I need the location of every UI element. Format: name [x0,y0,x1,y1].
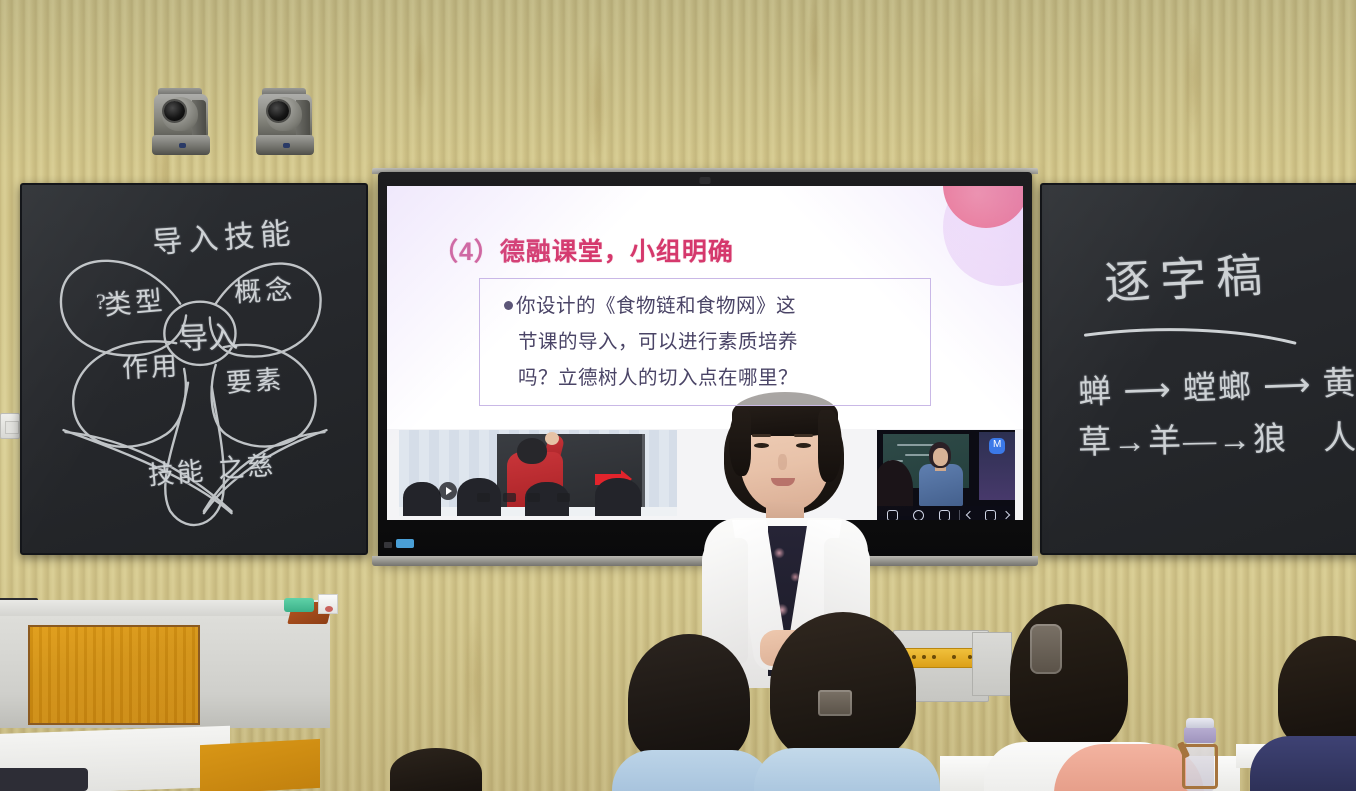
student-shirt [1250,736,1356,791]
hair-clip [1030,624,1062,674]
clip-person-head [517,438,547,464]
refresh-icon[interactable] [939,510,950,520]
play-icon[interactable] [439,482,457,500]
clip-student [595,478,641,516]
front-chair [0,768,88,791]
bottle-cap [1186,718,1214,728]
slide-body-line-2: 节课的导入，可以进行素质培养 [504,324,924,360]
left-chalkboard: 导入技能 类型 概念 作用 要素 技能 之慈 导入 ? [20,183,368,555]
student-hair [1010,604,1128,750]
bullet-icon [504,301,513,310]
podium-wood-panel [28,625,200,725]
food-chain-line-2: 草→羊—→狼 人 [1078,411,1356,464]
clip-control-icon[interactable] [503,493,516,502]
classroom-scene: 导入技能 类型 概念 作用 要素 技能 之慈 导入 ? 逐字稿 蝉 ⟶ 螳螂 ⟶… [0,0,1356,791]
mindmap-question-mark: ? [96,289,106,315]
food-chain-line-1: 蝉 ⟶ 螳螂 ⟶ 黄雀 [1077,355,1356,414]
student-hair [770,612,916,762]
mindmap-petal-5: 技能 [146,451,207,493]
mindmap-center-label: 导入 [177,312,238,358]
student-hair [1278,636,1356,748]
slide-title: （4）德融课堂，小组明确 [433,232,734,268]
previous-icon[interactable] [966,511,974,519]
presentation-slide: （4）德融课堂，小组明确 你设计的《食物链和食物网》这 节课的导入，可以进行素质… [387,186,1023,429]
app-badge-icon [989,438,1005,454]
ceiling-ptz-camera-right [256,88,314,168]
mindmap-petal-2: 概念 [233,267,297,309]
mindmap-petal-1: 类型 [102,278,167,322]
mindmap-petal-3: 作用 [121,346,181,386]
bottle-lid [1184,727,1216,743]
slide-content-box: 你设计的《食物链和食物网》这 节课的导入，可以进行素质培养 吗？立德树人的切入点… [479,278,931,406]
instructor-eye [754,443,769,448]
clip-person-hand [545,432,559,445]
camera-lens-icon [268,101,289,121]
student-shirt [612,750,772,791]
instructor-eyebrow [794,434,813,437]
student-5 [1270,636,1356,791]
slide-line-1-text: 你设计的《食物链和食物网》这 [516,295,796,317]
instructor-hair-right [818,410,842,482]
instructor-eye [796,443,811,448]
bezel-sensor-icon [700,177,711,184]
ceiling-ptz-camera-left [152,88,210,168]
slide-body-line-1: 你设计的《食物链和食物网》这 [504,288,924,324]
front-desk-wood-edge [200,739,320,791]
green-item-on-podium [284,598,314,612]
camera-led-indicator [179,143,186,148]
slide-title-number: （4） [433,238,500,266]
mindmap-petal-4: 要素 [225,359,285,400]
white-box-on-podium [318,594,338,614]
slide-body-text: 你设计的《食物链和食物网》这 节课的导入，可以进行素质培养 吗？立德树人的切入点… [504,288,924,396]
clip-control-icon[interactable] [527,493,540,502]
player-sidebar-ad[interactable] [979,432,1015,500]
instructor-hair-left [729,410,751,476]
control-separator [959,510,960,520]
slide-title-text: 德融课堂，小组明确 [500,238,734,266]
clip-control-icon[interactable] [477,493,490,502]
clip-student [403,482,441,516]
student-1 [612,634,762,791]
instructor-nose [778,454,787,470]
student-6 [390,748,500,791]
right-chalkboard: 逐字稿 蝉 ⟶ 螳螂 ⟶ 黄雀 草→羊—→狼 人 [1040,183,1356,555]
record-icon[interactable] [913,510,924,520]
socket-icon [952,655,956,659]
classroom-clip-left[interactable] [399,430,677,516]
student-hair [390,748,482,791]
mindmap-petal-6: 之慈 [217,445,277,486]
play-pause-icon[interactable] [985,510,996,520]
bezel-button[interactable] [384,542,392,548]
camera-led-indicator [283,143,290,148]
next-icon[interactable] [1002,511,1010,519]
player-person-face [933,448,948,466]
slide-body-line-3: 吗？立德树人的切入点在哪里？ [504,360,924,396]
student-2 [760,612,930,791]
camera-lens-icon [164,101,185,121]
light-switch[interactable] [0,413,20,439]
clip-control-icon[interactable] [557,493,570,502]
power-led-indicator [396,539,414,548]
student-shirt [754,748,940,791]
student-hair [628,634,750,764]
socket-icon [932,655,936,659]
hair-clip [818,690,852,716]
instructor-eyebrow [752,434,771,437]
water-bottle [1180,718,1220,791]
student-4 [1062,738,1188,791]
